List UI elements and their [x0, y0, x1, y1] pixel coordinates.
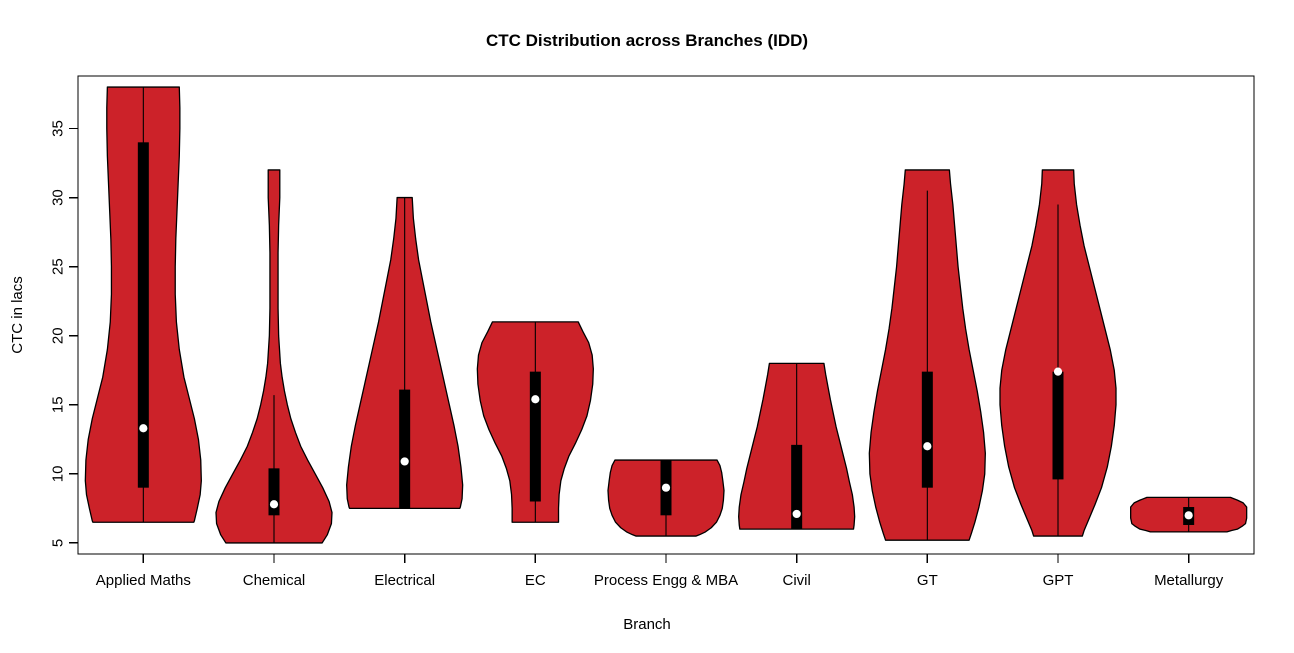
iqr-box	[399, 390, 410, 509]
x-axis-tick-label-ec: EC	[525, 572, 546, 589]
y-axis-tick-label: 35	[50, 120, 67, 137]
x-axis: Applied MathsChemicalElectricalECProcess…	[96, 554, 1224, 589]
iqr-box	[138, 142, 149, 487]
median-marker	[270, 500, 278, 508]
y-axis-title: CTC in lacs	[9, 276, 26, 354]
median-marker	[531, 395, 539, 403]
violin-applied-maths[interactable]	[85, 87, 201, 522]
median-marker	[1185, 511, 1193, 519]
violin-metallurgy[interactable]	[1131, 497, 1247, 532]
median-marker	[401, 457, 409, 465]
median-marker	[793, 510, 801, 518]
iqr-box	[530, 372, 541, 502]
x-axis-tick-label-gpt: GPT	[1043, 572, 1074, 589]
x-axis-tick-label-applied-maths: Applied Maths	[96, 572, 191, 589]
x-axis-tick-label-electrical: Electrical	[374, 572, 435, 589]
y-axis-tick-label: 15	[50, 396, 67, 413]
x-axis-tick-label-civil: Civil	[782, 572, 810, 589]
median-marker	[923, 442, 931, 450]
plot-canvas: CTC Distribution across Branches (IDD) C…	[0, 0, 1294, 653]
violin-process-engg-mba[interactable]	[608, 460, 724, 536]
y-axis-tick-label: 30	[50, 189, 67, 206]
y-axis-tick-label: 25	[50, 258, 67, 275]
violin-gt[interactable]	[869, 170, 985, 540]
y-axis-tick-label: 10	[50, 466, 67, 483]
median-marker	[1054, 368, 1062, 376]
violin-civil[interactable]	[739, 363, 855, 529]
page-title: CTC Distribution across Branches (IDD)	[486, 31, 808, 50]
iqr-box	[1053, 372, 1064, 480]
violin-chemical[interactable]	[216, 170, 332, 543]
x-axis-tick-label-chemical: Chemical	[243, 572, 306, 589]
violin-electrical[interactable]	[347, 198, 463, 509]
y-axis-tick-label: 5	[50, 539, 67, 547]
x-axis-tick-label-gt: GT	[917, 572, 938, 589]
y-axis-tick-label: 20	[50, 327, 67, 344]
violin-plot-figure: CTC Distribution across Branches (IDD) C…	[0, 0, 1294, 653]
x-axis-title: Branch	[623, 616, 671, 633]
iqr-box	[922, 372, 933, 488]
median-marker	[139, 424, 147, 432]
y-axis: 5101520253035	[50, 120, 79, 547]
violin-ec[interactable]	[477, 322, 593, 522]
median-marker	[662, 484, 670, 492]
violin-gpt[interactable]	[1000, 170, 1116, 536]
violin-series-group	[85, 87, 1246, 543]
x-axis-tick-label-metallurgy: Metallurgy	[1154, 572, 1224, 589]
x-axis-tick-label-process-engg-mba: Process Engg & MBA	[594, 572, 738, 589]
